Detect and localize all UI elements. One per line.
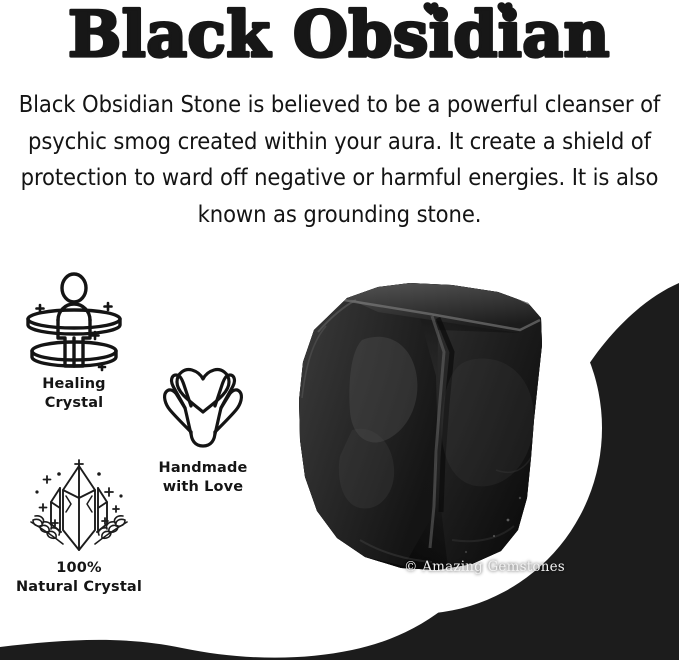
hands-holding-heart-icon [151, 366, 255, 456]
badge-handmade-with-love-label: Handmade with Love [137, 459, 269, 497]
badge-handmade-with-love: Handmade with Love [137, 366, 269, 497]
watermark-credit: © Amazing Gemstones [404, 559, 565, 575]
badge-natural-crystal: 100% Natural Crystal [6, 458, 152, 597]
badge-natural-crystal-label: 100% Natural Crystal [6, 559, 152, 597]
crystal-point-laurel-icon [13, 458, 145, 556]
badge-healing-crystal: Healing Crystal [16, 272, 132, 413]
product-poster: Black Obsidian Black Obsidian Stone is b… [0, 0, 679, 660]
page-title: Black Obsidian [0, 0, 679, 74]
aura-figure-icon [18, 272, 130, 372]
page-title-text: Black Obsidian [68, 0, 610, 71]
badge-healing-crystal-label: Healing Crystal [16, 375, 132, 413]
page-title-graphic: Black Obsidian [0, 0, 679, 74]
product-description: Black Obsidian Stone is believed to be a… [14, 86, 665, 232]
